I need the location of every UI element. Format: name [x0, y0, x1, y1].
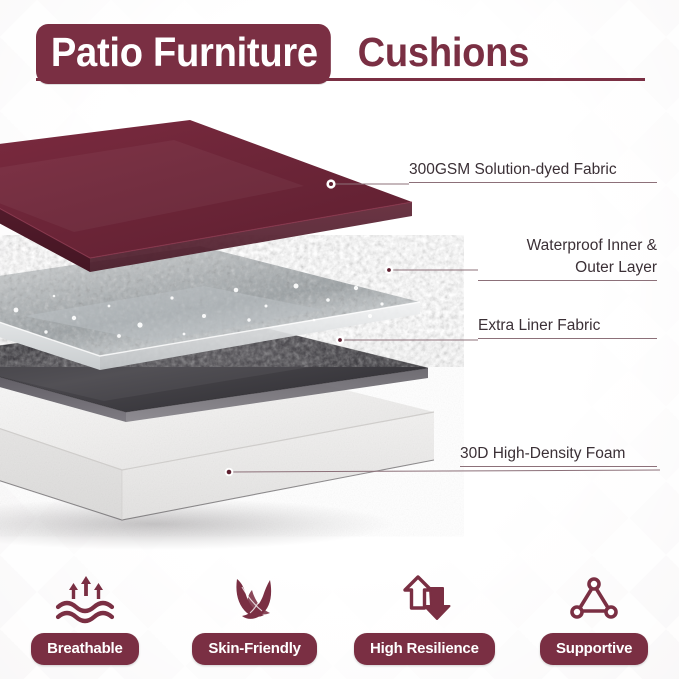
callout-rule-3 — [478, 338, 657, 339]
title-underline-rule — [36, 78, 645, 81]
triangle-nodes-icon — [557, 574, 631, 626]
title-plain-text: Cushions — [353, 24, 529, 84]
callout-extra-liner-fabric: Extra Liner Fabric — [478, 316, 657, 339]
callout-rule-2 — [478, 280, 657, 281]
callout-waterproof-layer: Waterproof Inner & Outer Layer — [478, 236, 657, 281]
feature-label-supportive: Supportive — [540, 633, 648, 665]
up-down-arrows-icon — [387, 574, 461, 626]
callout-label-3: Extra Liner Fabric — [478, 316, 657, 338]
callout-rule-1 — [409, 182, 657, 183]
callout-label-4: 30D High-Density Foam — [460, 444, 657, 466]
feature-label-breathable: Breathable — [31, 633, 139, 665]
airflow-waves-icon — [48, 574, 122, 626]
callout-label-2-line2: Outer Layer — [478, 258, 657, 280]
callout-label-1: 300GSM Solution-dyed Fabric — [409, 160, 657, 182]
callout-label-2-line1: Waterproof Inner & — [478, 236, 657, 258]
callout-300gsm-fabric: 300GSM Solution-dyed Fabric — [409, 160, 657, 183]
feature-label-skin-friendly: Skin-Friendly — [192, 633, 316, 665]
exploded-cushion-illustration — [0, 120, 464, 550]
feature-label-high-resilience: High Resilience — [354, 633, 495, 665]
feature-supportive[interactable]: Supportive — [519, 574, 669, 665]
top-fabric-layer — [0, 120, 412, 272]
infographic-page: Patio Furniture Cushions — [0, 0, 679, 679]
title-highlight-pill: Patio Furniture — [36, 24, 331, 84]
feature-breathable[interactable]: Breathable — [10, 574, 160, 665]
feature-badges: Breathable Skin-Friendly — [0, 560, 679, 665]
callout-rule-4 — [460, 466, 657, 467]
page-title: Patio Furniture Cushions — [36, 24, 542, 84]
feature-skin-friendly[interactable]: Skin-Friendly — [180, 574, 330, 665]
feature-high-resilience[interactable]: High Resilience — [349, 574, 499, 665]
feather-icon — [218, 574, 292, 626]
callout-30d-foam: 30D High-Density Foam — [460, 444, 657, 467]
header: Patio Furniture Cushions — [0, 0, 679, 96]
